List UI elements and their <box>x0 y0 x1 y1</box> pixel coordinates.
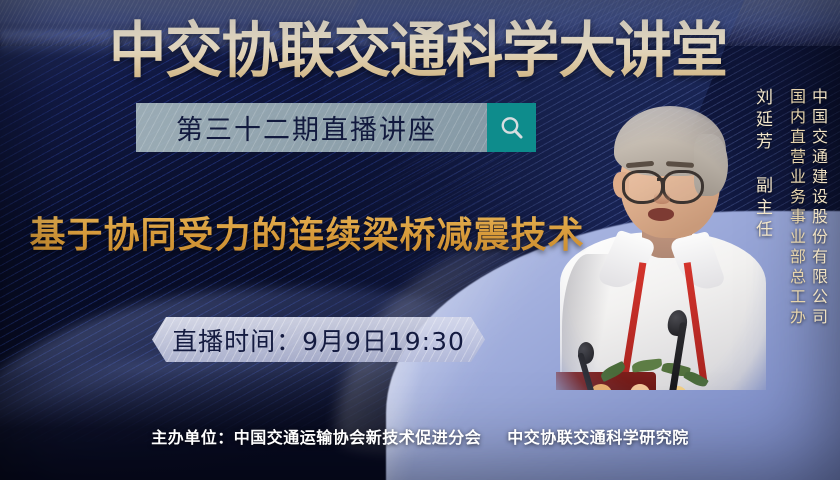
leaf <box>632 358 663 372</box>
speaker-company: 中国交通建设股份有限公司 <box>810 88 826 328</box>
speaker-glasses-bridge <box>657 178 665 181</box>
leaf <box>683 369 709 390</box>
speaker-credits: 中国交通建设股份有限公司 国内直营业务事业部总工办 刘延芳 副主任 <box>753 88 826 328</box>
episode-banner: 第三十二期直播讲座 <box>136 103 536 152</box>
search-icon <box>498 114 526 142</box>
page-title: 中交协联交通科学大讲堂 <box>100 16 736 85</box>
footer-organizer: 主办单位：中国交通运输协会新技术促进分会 <box>151 428 481 447</box>
speaker-name: 刘延芳 副主任 <box>753 88 770 242</box>
flower <box>630 384 650 390</box>
lecture-topic: 基于协同受力的连续梁桥减震技术 <box>22 206 592 258</box>
leaf <box>599 361 627 382</box>
episode-label: 第三十二期直播讲座 <box>136 103 487 152</box>
footer-organizer-secondary: 中交协联交通科学研究院 <box>507 428 689 447</box>
search-icon-button[interactable] <box>487 103 536 152</box>
poster-canvas: 中交协联交通科学大讲堂 第三十二期直播讲座 基于协同受力的连续梁桥减震技术 直播… <box>0 0 840 480</box>
live-time-text: 直播时间：9月9日19:30 <box>172 322 465 358</box>
footer: 主办单位：中国交通运输协会新技术促进分会中交协联交通科学研究院 <box>0 424 840 448</box>
speaker-mouth <box>648 208 674 221</box>
live-time-badge: 直播时间：9月9日19:30 <box>152 317 485 362</box>
speaker-department: 国内直营业务事业部总工办 <box>788 88 804 328</box>
speaker-nose <box>654 192 670 204</box>
flower-arrangement <box>584 354 734 390</box>
